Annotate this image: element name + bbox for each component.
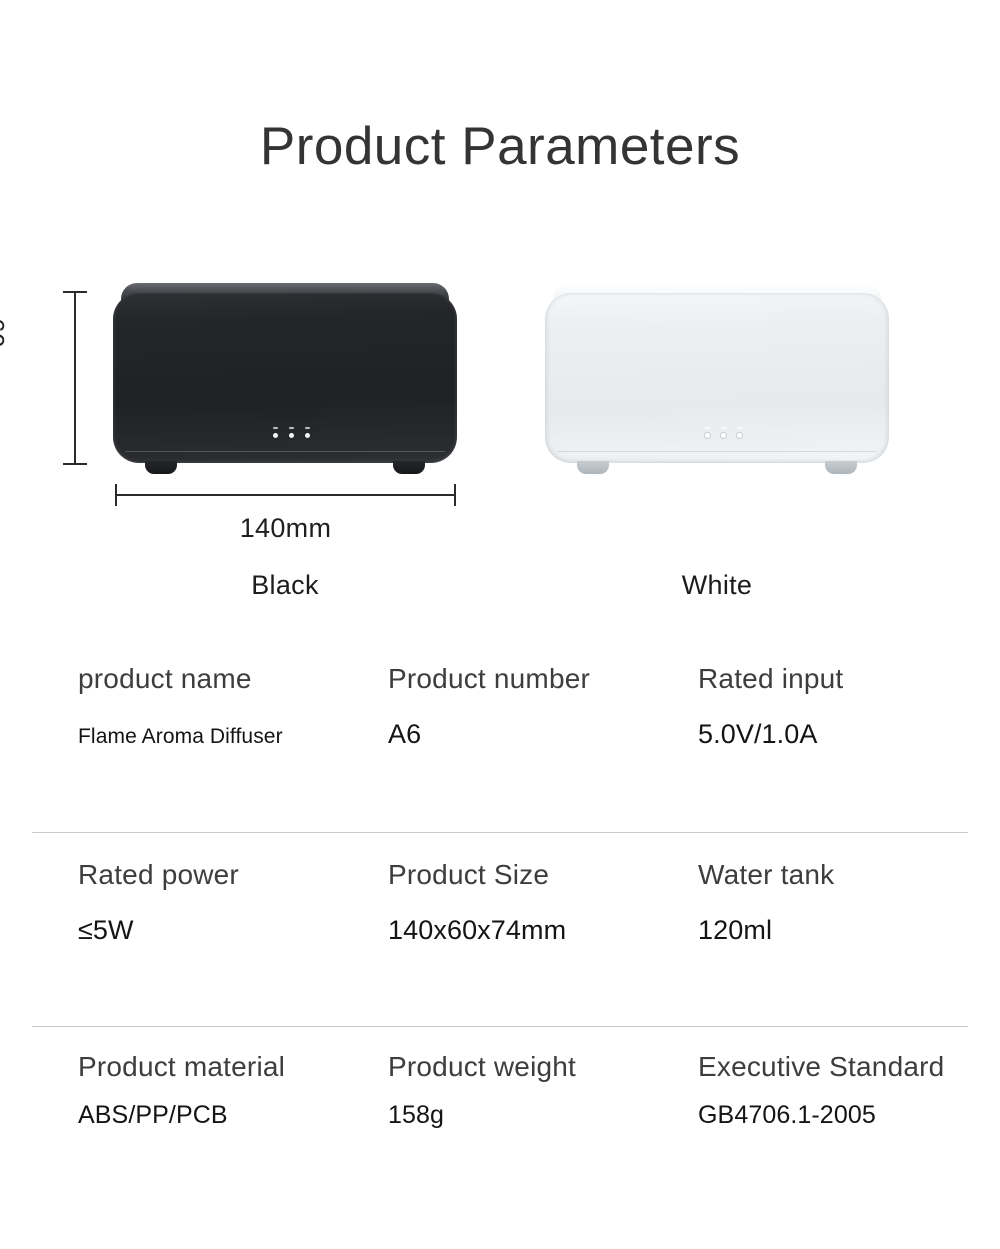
led-indicator-group xyxy=(705,433,742,438)
color-caption-white: White xyxy=(545,570,889,601)
spec-cell: Rated input 5.0V/1.0A xyxy=(698,662,998,750)
device-foot-right xyxy=(393,461,425,474)
spec-value: A6 xyxy=(388,718,688,750)
product-showcase: 60mm 140mm Black White xyxy=(0,0,1000,620)
led-indicator-icon xyxy=(289,433,294,438)
spec-label: Rated power xyxy=(78,858,378,892)
spec-value: ≤5W xyxy=(78,914,378,946)
specification-table: product name Flame Aroma Diffuser Produc… xyxy=(0,650,1000,1238)
spec-label: Product material xyxy=(78,1050,378,1084)
device-base-seam xyxy=(125,451,445,452)
led-indicator-icon xyxy=(705,433,710,438)
led-indicator-icon xyxy=(305,433,310,438)
spec-value: 120ml xyxy=(698,914,998,946)
spec-label: product name xyxy=(78,662,378,696)
spec-row: product name Flame Aroma Diffuser Produc… xyxy=(0,650,1000,846)
row-divider xyxy=(32,1026,968,1027)
spec-label: Product weight xyxy=(388,1050,688,1084)
spec-label: Product Size xyxy=(388,858,688,892)
device-base-seam xyxy=(557,451,877,452)
spec-cell: Product Size 140x60x74mm xyxy=(388,858,688,946)
spec-cell: Product number A6 xyxy=(388,662,688,750)
spec-label: Rated input xyxy=(698,662,998,696)
spec-cell: Executive Standard GB4706.1-2005 xyxy=(698,1050,998,1130)
led-indicator-group xyxy=(273,433,310,438)
spec-value: 140x60x74mm xyxy=(388,914,688,946)
led-indicator-icon xyxy=(721,433,726,438)
width-dimension-line xyxy=(115,494,456,496)
spec-cell: Water tank 120ml xyxy=(698,858,998,946)
black-device-image xyxy=(113,283,457,473)
spec-row: Rated power ≤5W Product Size 140x60x74mm… xyxy=(0,846,1000,1042)
spec-cell: Product material ABS/PP/PCB xyxy=(78,1050,378,1130)
device-foot-left xyxy=(577,461,609,474)
spec-value: 5.0V/1.0A xyxy=(698,718,998,750)
spec-value: Flame Aroma Diffuser xyxy=(78,724,378,749)
height-dimension-label: 60mm xyxy=(0,318,10,438)
led-indicator-icon xyxy=(737,433,742,438)
spec-row: Product material ABS/PP/PCB Product weig… xyxy=(0,1042,1000,1238)
spec-cell: Rated power ≤5W xyxy=(78,858,378,946)
spec-value: ABS/PP/PCB xyxy=(78,1100,378,1130)
spec-label: Product number xyxy=(388,662,688,696)
color-caption-black: Black xyxy=(113,570,457,601)
device-foot-left xyxy=(145,461,177,474)
spec-value: GB4706.1-2005 xyxy=(698,1100,998,1130)
led-indicator-icon xyxy=(273,433,278,438)
spec-value: 158g xyxy=(388,1100,688,1130)
row-divider xyxy=(32,832,968,833)
width-dimension-label: 140mm xyxy=(115,513,456,544)
height-dimension-line xyxy=(74,291,76,465)
spec-label: Water tank xyxy=(698,858,998,892)
spec-label: Executive Standard xyxy=(698,1050,998,1084)
spec-cell: product name Flame Aroma Diffuser xyxy=(78,662,378,749)
spec-cell: Product weight 158g xyxy=(388,1050,688,1130)
device-foot-right xyxy=(825,461,857,474)
white-device-image xyxy=(545,283,889,473)
